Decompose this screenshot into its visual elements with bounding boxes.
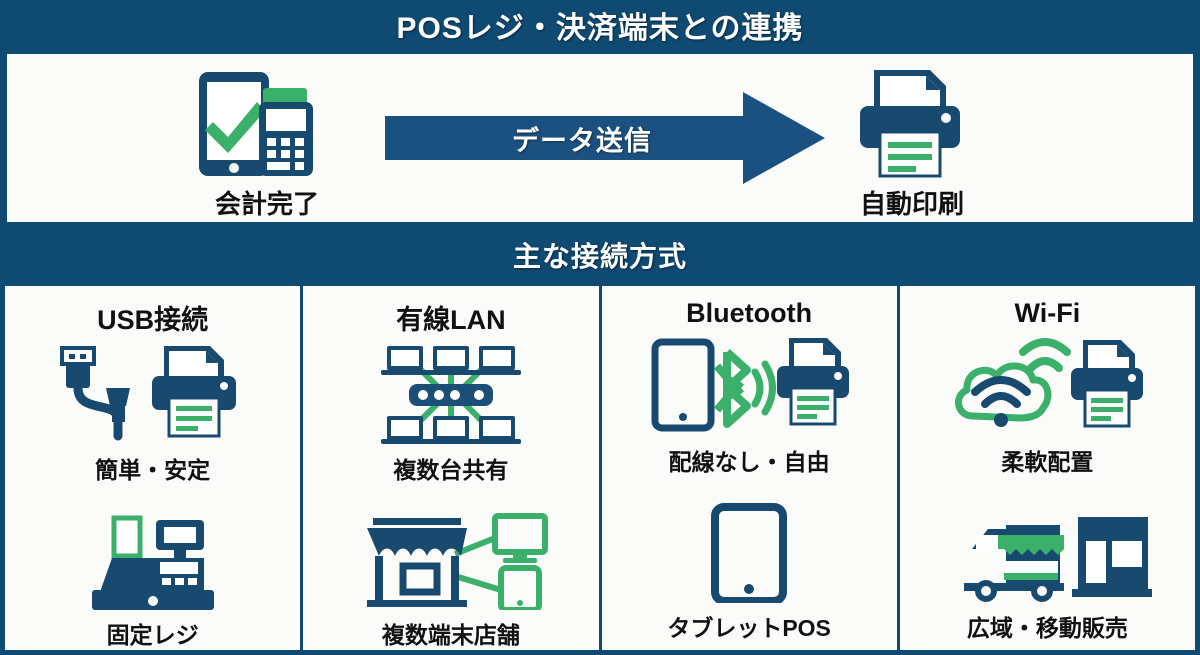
cloud-wifi-printer-icon	[947, 333, 1147, 439]
section-header-band: 主な接続方式	[0, 226, 1200, 283]
flow-step-payment-label: 会計完了	[177, 184, 357, 221]
method-caption-wifi-bottom: 広域・移動販売	[967, 609, 1128, 643]
infographic-root: POSレジ・決済端末との連携	[0, 0, 1200, 655]
tablet-icon	[699, 499, 799, 603]
data-transmission-label: データ送信	[385, 92, 825, 184]
page-title-bar: POSレジ・決済端末との連携	[0, 0, 1200, 50]
data-transmission-arrow: データ送信	[385, 92, 825, 184]
page-title: POSレジ・決済端末との連携	[396, 3, 803, 47]
connection-methods-grid: USB接続	[3, 284, 1197, 652]
method-caption-usb-top: 簡単・安定	[95, 451, 210, 485]
method-column-lan[interactable]: 有線LAN	[303, 286, 601, 650]
flow-panel: 会計完了 データ送信	[5, 52, 1195, 224]
tablet-card-terminal-icon	[177, 68, 357, 180]
method-column-usb[interactable]: USB接続	[5, 286, 303, 650]
flow-step-print: 自動印刷	[812, 68, 1012, 221]
printer-icon	[812, 68, 1012, 180]
section-title: 主な接続方式	[513, 235, 687, 275]
method-caption-usb-bottom: 固定レジ	[107, 616, 199, 650]
method-caption-lan-top: 複数台共有	[393, 451, 508, 485]
cash-register-icon	[78, 507, 228, 611]
method-title-lan: 有線LAN	[396, 298, 506, 337]
method-title-wifi: Wi-Fi	[1015, 298, 1081, 329]
usb-cable-printer-icon	[48, 341, 258, 447]
shop-multi-device-icon	[351, 507, 551, 611]
method-caption-lan-bottom: 複数端末店舗	[382, 616, 520, 650]
food-truck-store-icon	[942, 499, 1152, 603]
method-title-usb: USB接続	[97, 298, 208, 337]
tablet-bluetooth-printer-icon	[649, 333, 849, 439]
flow-step-payment: 会計完了	[177, 68, 357, 221]
method-column-bluetooth[interactable]: Bluetooth	[602, 286, 900, 650]
flow-step-print-label: 自動印刷	[812, 184, 1012, 221]
method-column-wifi[interactable]: Wi-Fi	[900, 286, 1195, 650]
method-caption-bluetooth-bottom: タブレットPOS	[667, 609, 831, 643]
method-title-bluetooth: Bluetooth	[686, 298, 812, 329]
router-laptops-network-icon	[361, 341, 541, 447]
method-caption-bluetooth-top: 配線なし・自由	[669, 443, 830, 477]
method-caption-wifi-top: 柔軟配置	[1001, 443, 1093, 477]
